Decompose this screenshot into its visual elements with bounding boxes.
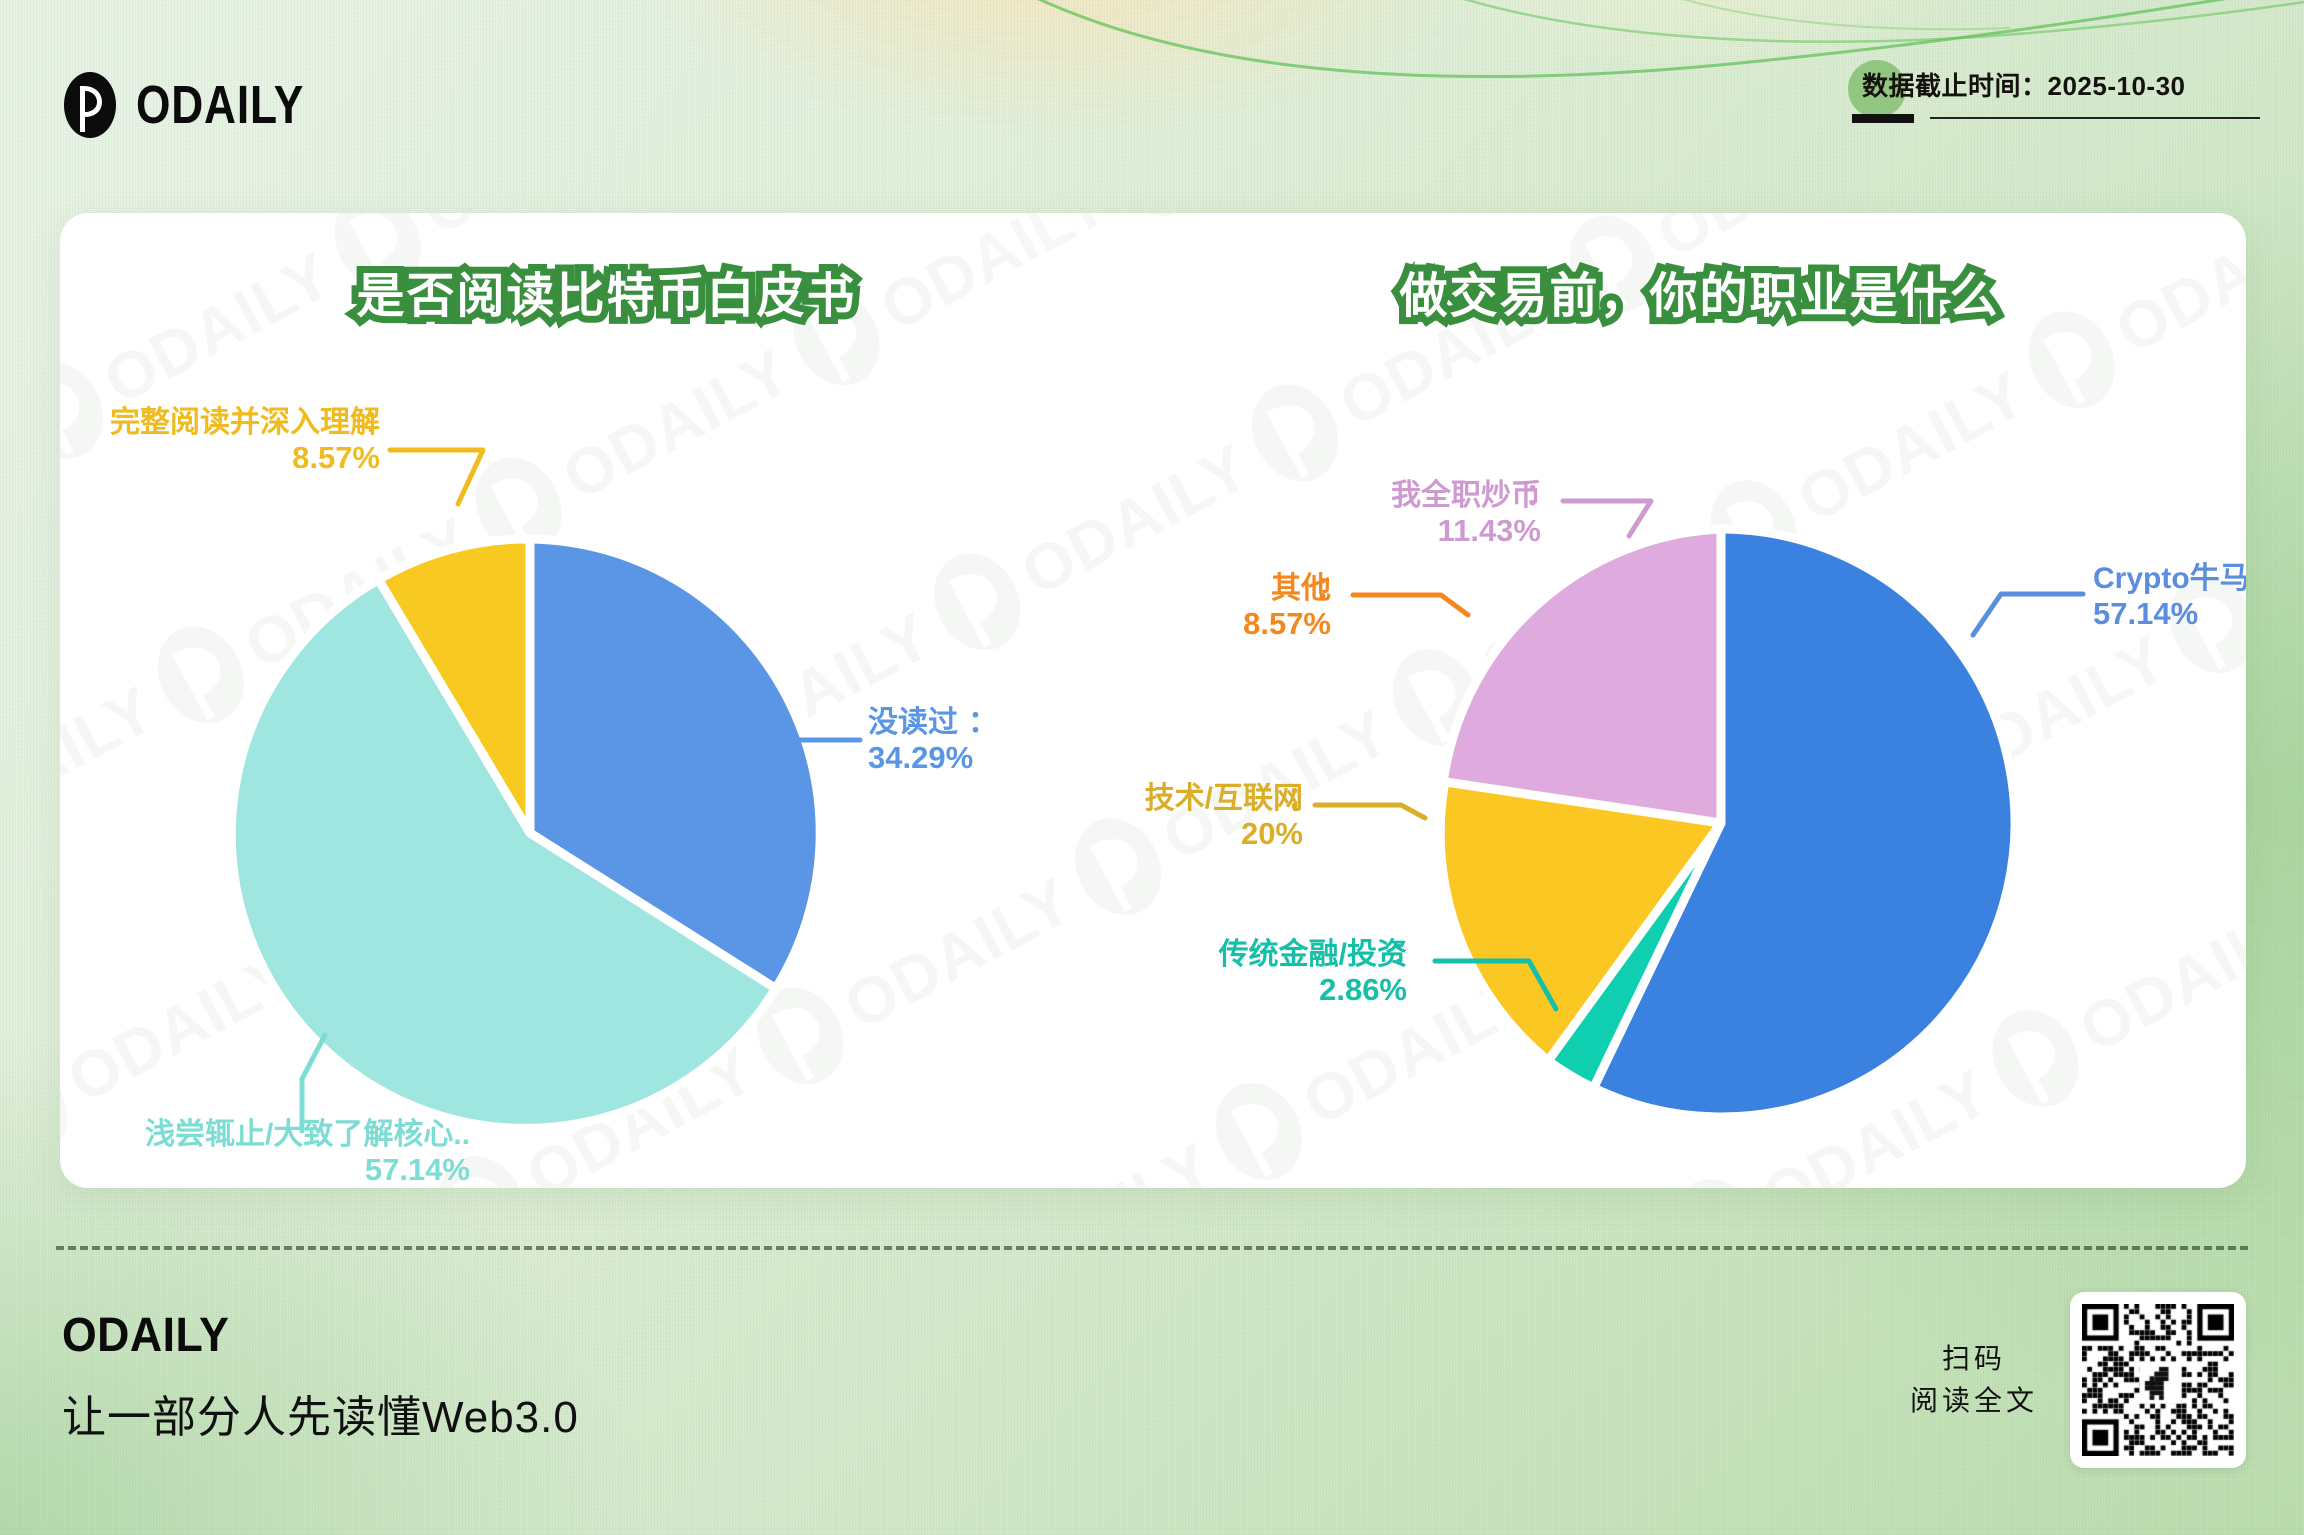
pie-label-did-not-read-value: 34.29% bbox=[868, 740, 973, 777]
pie-label-other-name: 其他 bbox=[1153, 571, 1331, 606]
pie-label-traditional-finance-name: 传统金融/投资 bbox=[1133, 937, 1407, 972]
callout-line-other bbox=[1353, 595, 1468, 615]
pie-label-fulltime-trader: 我全职炒币 11.43% bbox=[1173, 478, 1541, 550]
page-header: ODAILY 数据截止时间：2025-10-30 bbox=[0, 0, 2304, 200]
pie-label-read-fully-value: 8.57% bbox=[60, 440, 380, 477]
datestamp-text: 数据截止时间：2025-10-30 bbox=[1862, 66, 2186, 103]
callout-line-crypto-worker bbox=[1973, 594, 2083, 635]
datestamp-rule-thick bbox=[1852, 114, 1914, 123]
page-footer: ODAILY 让一部分人先读懂Web3.0 扫码 阅读全文 bbox=[0, 1270, 2304, 1535]
qr-caption-line1: 扫码 bbox=[1910, 1338, 2038, 1380]
callout-lines-whitepaper bbox=[60, 213, 1153, 1188]
pie-label-skimmed-value: 57.14% bbox=[60, 1152, 470, 1188]
datestamp-rule-thin bbox=[1930, 117, 2260, 119]
footer-brand-name: ODAILY bbox=[62, 1308, 543, 1363]
brand-logo-text: ODAILY bbox=[136, 78, 304, 132]
qr-block[interactable]: 扫码 阅读全文 bbox=[1910, 1292, 2246, 1468]
pie-label-other-colon: ： bbox=[1315, 571, 1345, 606]
pie-label-other: 其他 8.57% bbox=[1153, 571, 1331, 643]
footer-divider bbox=[56, 1246, 2248, 1250]
chart-panel-whitepaper: 是否阅读比特币白皮书 完整阅读并深入理解 8.57% ： 没读过 34.29% … bbox=[60, 213, 1153, 1188]
pie-label-skimmed-name: 浅尝辄止/大致了解核心.. bbox=[60, 1117, 470, 1152]
pie-label-did-not-read-colon: ： bbox=[968, 705, 998, 740]
pie-label-traditional-finance: 传统金融/投资 2.86% bbox=[1133, 937, 1407, 1009]
datestamp: 数据截止时间：2025-10-30 bbox=[1842, 52, 2262, 136]
pie-label-tech-internet-name: 技术/互联网 bbox=[1013, 781, 1303, 816]
brand-logo[interactable]: ODAILY bbox=[62, 70, 341, 140]
chart-panel-occupation: 做交易前，你的职业是什么 我全职炒币 11.43% ： 其他 bbox=[1153, 213, 2246, 1188]
pie-label-crypto-worker: Crypto牛马 57.14% bbox=[2093, 561, 2246, 633]
callout-lines-occupation bbox=[1153, 213, 2246, 1188]
pie-label-tech-internet: 技术/互联网 20% bbox=[1013, 781, 1303, 853]
callout-line-did-not-read bbox=[736, 740, 860, 772]
pie-label-skimmed: 浅尝辄止/大致了解核心.. 57.14% bbox=[60, 1117, 470, 1188]
pie-label-traditional-finance-value: 2.86% bbox=[1133, 972, 1407, 1009]
pie-label-crypto-worker-value: 57.14% bbox=[2093, 596, 2246, 633]
callout-line-fulltime-trader bbox=[1563, 501, 1651, 536]
footer-slogan: 让一部分人先读懂Web3.0 bbox=[62, 1381, 579, 1445]
callout-line-tech-internet bbox=[1315, 805, 1425, 818]
pie-label-crypto-worker-name: Crypto牛马 bbox=[2093, 561, 2246, 596]
pie-label-other-value: 8.57% bbox=[1153, 606, 1331, 643]
qr-caption-line2: 阅读全文 bbox=[1910, 1380, 2038, 1422]
pie-label-read-fully-colon: ： bbox=[364, 405, 394, 440]
pie-label-fulltime-trader-colon: ： bbox=[1525, 478, 1555, 513]
pie-label-read-fully: 完整阅读并深入理解 8.57% bbox=[60, 405, 380, 477]
pie-label-tech-internet-colon: ： bbox=[1287, 781, 1317, 816]
charts-card: ODAILY 是否阅读比特币白皮书 完整阅读并深入理解 8.57% ： bbox=[60, 213, 2246, 1188]
pie-label-traditional-finance-colon: ： bbox=[1391, 937, 1421, 972]
odaily-p-mark-icon bbox=[62, 70, 118, 140]
pie-label-read-fully-name: 完整阅读并深入理解 bbox=[60, 405, 380, 440]
footer-brand-block: ODAILY 让一部分人先读懂Web3.0 bbox=[62, 1308, 579, 1445]
pie-label-did-not-read-name: 没读过 bbox=[868, 705, 973, 740]
pie-label-did-not-read: 没读过 34.29% bbox=[868, 705, 973, 777]
callout-line-traditional-finance bbox=[1435, 961, 1556, 1009]
qr-code-canvas bbox=[2082, 1304, 2234, 1456]
pie-label-tech-internet-value: 20% bbox=[1013, 816, 1303, 853]
pie-label-fulltime-trader-name: 我全职炒币 bbox=[1173, 478, 1541, 513]
qr-caption: 扫码 阅读全文 bbox=[1910, 1338, 2038, 1422]
callout-line-read-fully bbox=[390, 450, 483, 504]
pie-label-fulltime-trader-value: 11.43% bbox=[1173, 513, 1541, 550]
qr-code-icon[interactable] bbox=[2070, 1292, 2246, 1468]
